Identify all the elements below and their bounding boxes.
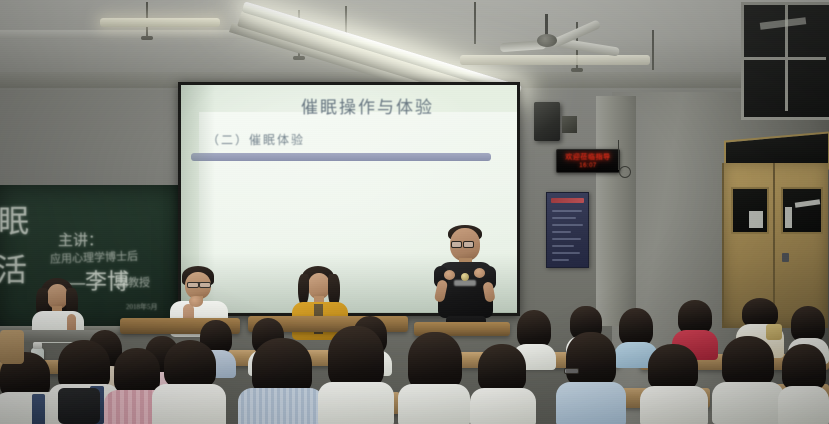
audience-member-foreground: [712, 336, 784, 424]
notice-line: [552, 231, 571, 233]
audience-member-foreground: [152, 340, 226, 424]
hair: [648, 344, 698, 390]
led-scrolling-sign: 欢迎莅临指导 16:07: [556, 149, 620, 173]
hair: [782, 344, 826, 390]
notice-line: [552, 217, 576, 219]
hair: [566, 332, 616, 386]
audience-member-foreground: [398, 332, 470, 424]
slide-divider-bar: [191, 153, 491, 161]
wall-hook: [619, 166, 631, 178]
hair: [722, 336, 774, 386]
led-sign-wire: [618, 140, 619, 170]
hair: [678, 300, 712, 334]
audience-member-foreground: [640, 344, 708, 424]
hair: [408, 332, 462, 390]
ceiling-fan-hub: [537, 34, 557, 47]
audience-member-foreground: [778, 344, 829, 424]
led-sign-line1: 欢迎莅临指导: [565, 153, 611, 162]
torso: [470, 388, 536, 424]
led-sign-line2: 16:07: [579, 162, 597, 170]
torso: [712, 382, 784, 424]
presenter-speaker: [432, 228, 498, 332]
slide-subtitle: （二）催眠体验: [207, 131, 305, 148]
classroom-photo: 眠 活 主讲： 应用心理学博士后 —李博 副教授 2018年5月 催眠操作与体验…: [0, 0, 829, 424]
bottle-cap: [33, 342, 42, 349]
fluorescent-tube-left: [100, 18, 220, 27]
torso: [778, 386, 829, 424]
notice-line: [552, 259, 569, 261]
hand-right: [474, 268, 485, 278]
notice-board: [546, 192, 589, 268]
door-handle[interactable]: [782, 253, 789, 262]
hair: [791, 306, 825, 342]
notice-line: [552, 252, 580, 254]
ceiling-rod-6: [652, 30, 654, 70]
wall-pillar: [596, 96, 636, 326]
door-pane-left: [731, 187, 769, 234]
audience-member-foreground: [470, 344, 536, 424]
door-pane-reflection: [785, 207, 792, 228]
hair: [328, 326, 384, 388]
ceiling-rod-4: [474, 2, 476, 44]
notice-line: [552, 238, 581, 240]
door-pane-right: [781, 187, 823, 234]
backpack-strap: [32, 394, 45, 424]
wall-bracket: [562, 116, 577, 133]
desk-side-panel: [0, 330, 24, 364]
door-pane-reflection: [749, 211, 763, 228]
hair: [252, 338, 312, 394]
glasses: [564, 368, 579, 374]
glasses: [199, 282, 211, 288]
audience-member-foreground: [238, 338, 324, 424]
ceiling-rod-foot-3: [141, 36, 153, 40]
hand-at-chin: [189, 296, 203, 307]
fluorescent-tube-right: [460, 55, 650, 65]
ceiling-rod-foot-5: [571, 68, 583, 72]
torso: [152, 384, 226, 424]
torso: [640, 386, 708, 424]
glasses: [451, 241, 462, 248]
microphone-icon: [461, 273, 469, 281]
audience-member-foreground: [556, 332, 626, 424]
torso: [398, 384, 470, 424]
glasses-bridge: [197, 282, 200, 283]
door-pane-reflection: [795, 199, 820, 207]
notice-line: [552, 224, 583, 226]
hair: [164, 340, 216, 388]
notice-board-header: [551, 198, 584, 203]
audience-member-foreground: [318, 326, 394, 424]
hand-left: [444, 270, 455, 280]
notice-line: [552, 210, 582, 212]
notice-line: [552, 245, 574, 247]
torso: [556, 382, 626, 424]
hair: [478, 344, 526, 392]
torso: [238, 388, 324, 424]
blackboard: [0, 185, 185, 333]
glasses: [463, 241, 474, 248]
hair: [517, 310, 551, 348]
ceiling-fan-rod: [545, 14, 548, 36]
wall-speaker-icon: [534, 102, 560, 141]
window-mullion-h: [744, 57, 826, 60]
chair-back: [58, 388, 100, 424]
hair: [58, 340, 110, 390]
torso: [318, 382, 394, 424]
slide-title: 催眠操作与体验: [301, 93, 434, 118]
